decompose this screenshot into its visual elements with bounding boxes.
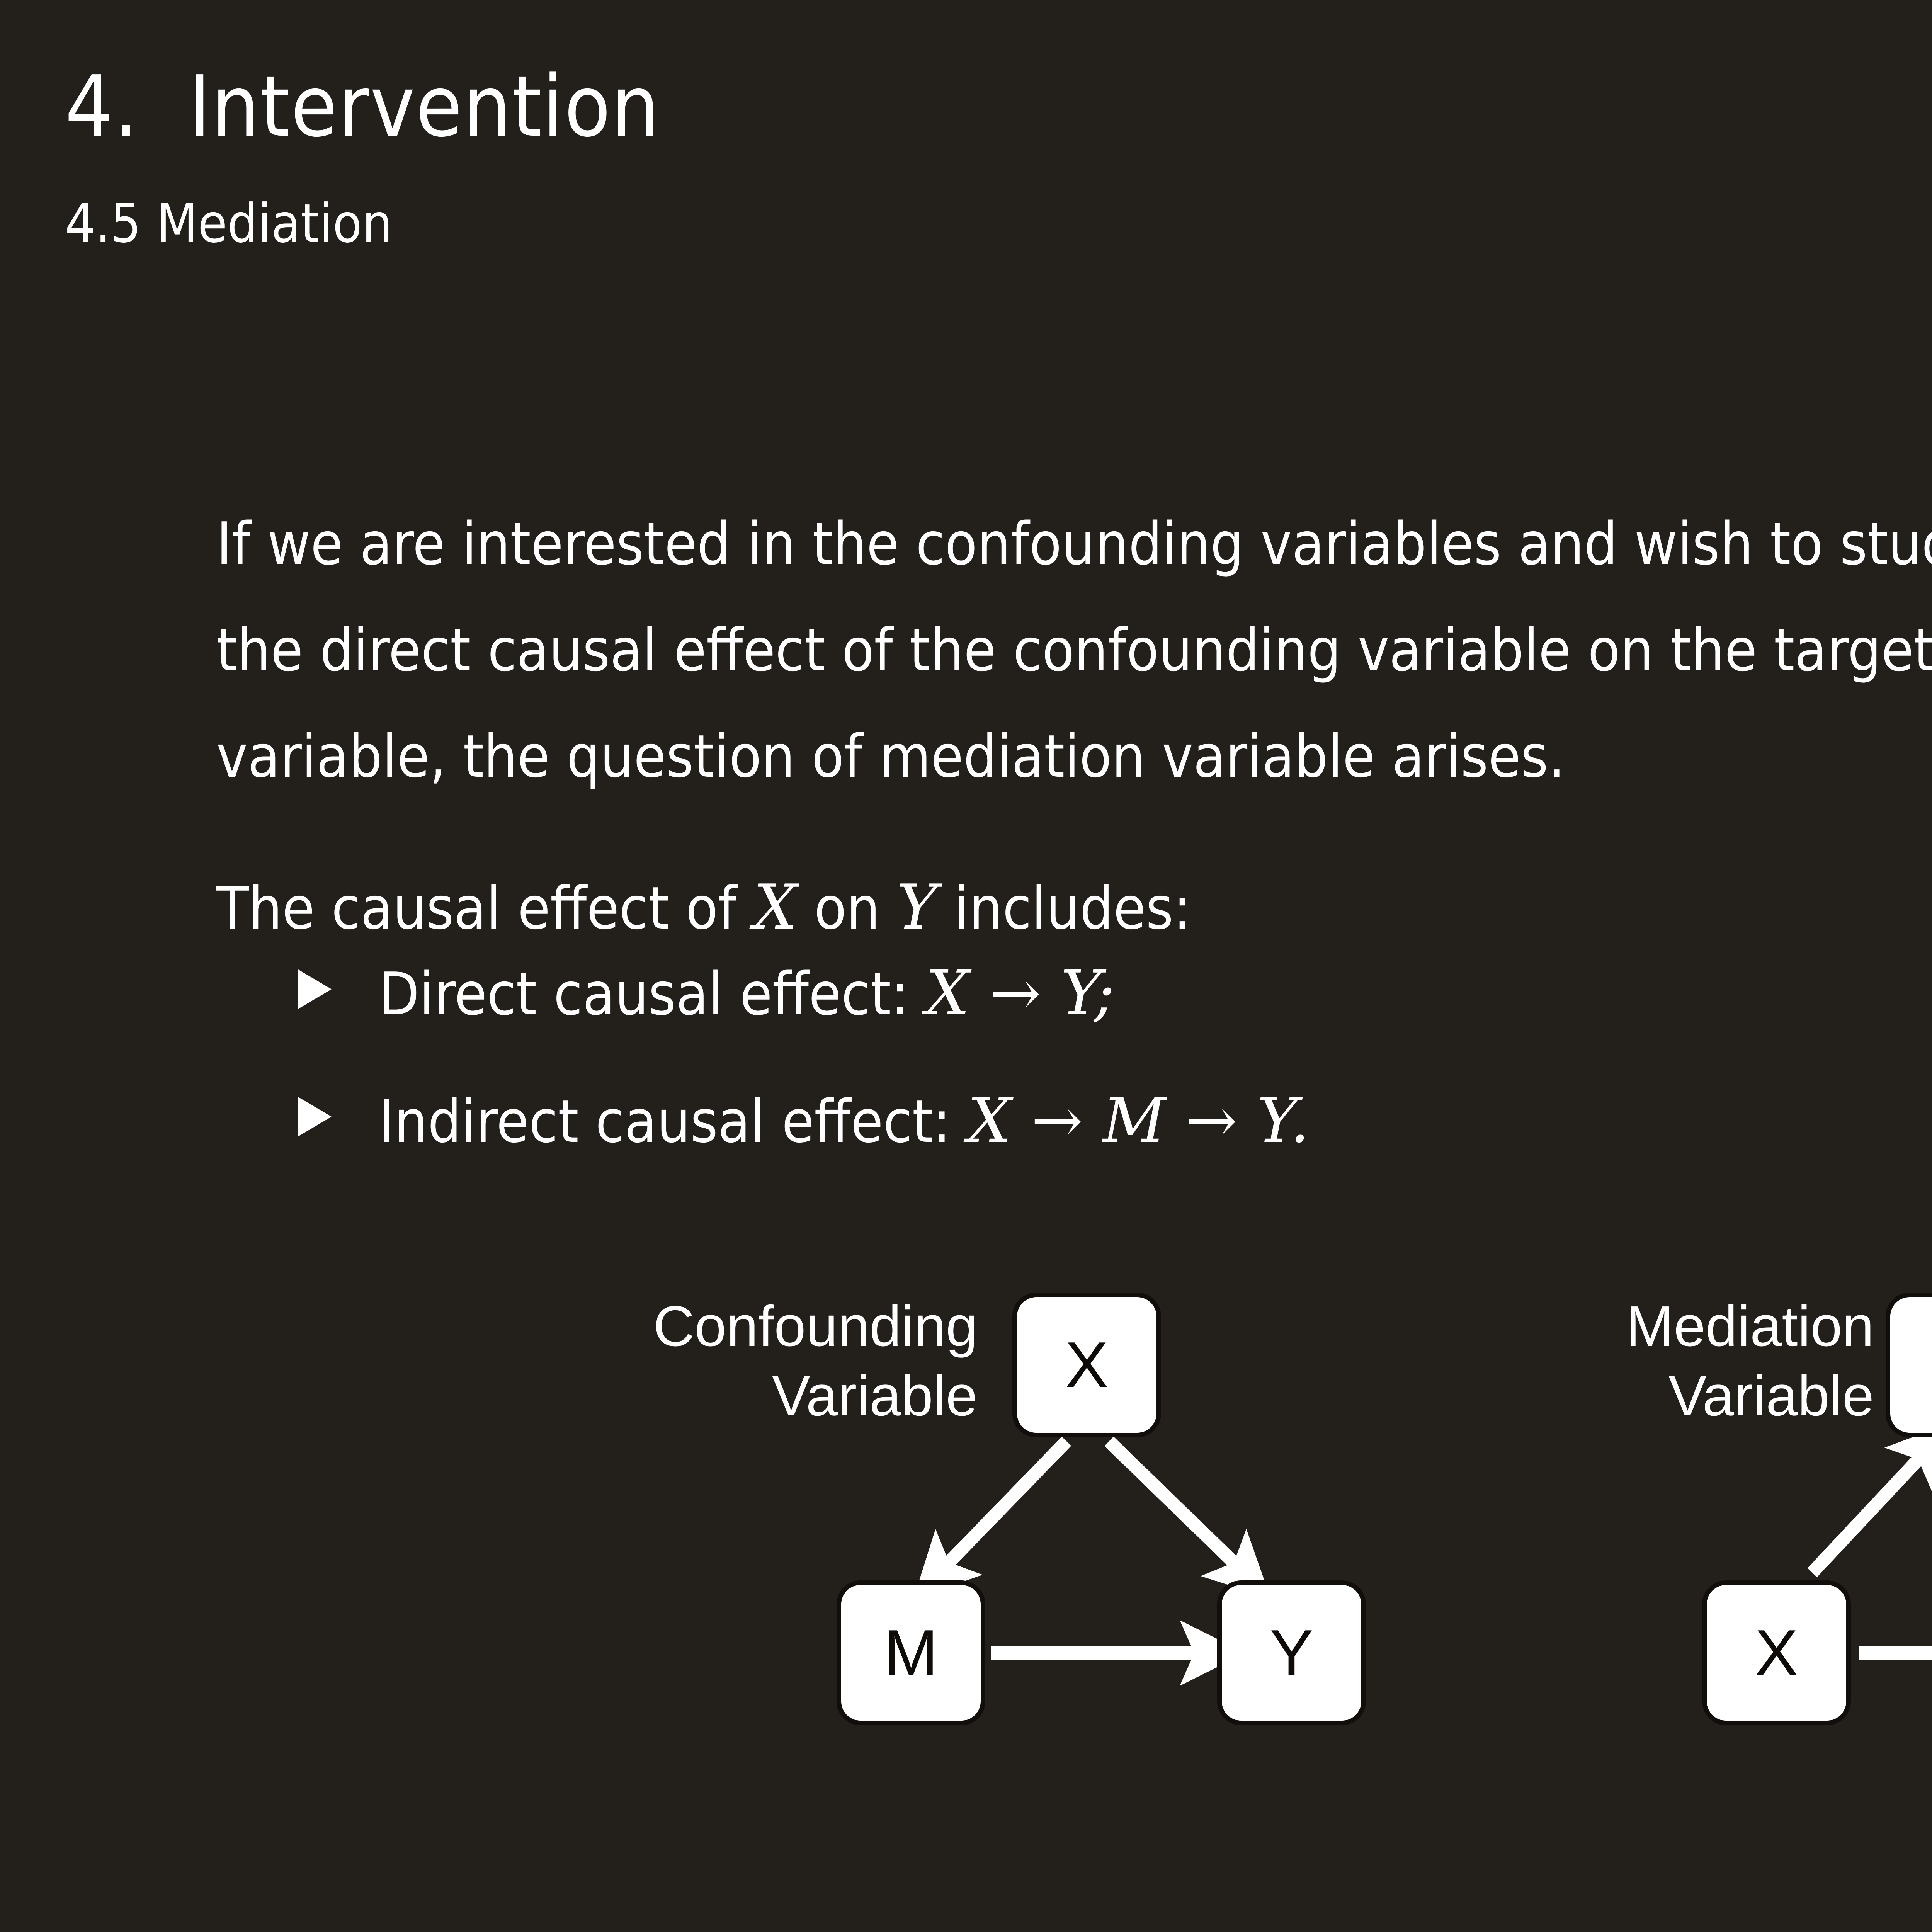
bullet-indirect-effect: Indirect causal effect: X → M → Y. bbox=[216, 1090, 1932, 1217]
bullet-terminator: . bbox=[1290, 1084, 1310, 1156]
edge-x-to-m bbox=[939, 1441, 1066, 1573]
paragraph-line-2: the direct causal effect of the confound… bbox=[216, 616, 1932, 684]
bullet-list: Direct causal effect: X → Y; Indirect ca… bbox=[216, 962, 1932, 1217]
edge-x-to-m bbox=[1812, 1449, 1928, 1573]
node-m[interactable]: M bbox=[837, 1580, 985, 1725]
page-subtitle: 4.5 Mediation bbox=[65, 197, 393, 250]
triangle-right-bullet-icon bbox=[298, 1097, 332, 1137]
lead-in-variable-y: Y bbox=[897, 871, 938, 943]
bullet-terminator: ; bbox=[1094, 957, 1115, 1029]
node-m[interactable]: M bbox=[1886, 1293, 1932, 1437]
bullet-label: Direct causal effect: bbox=[379, 960, 925, 1028]
bullet-formula: X → M → Y bbox=[968, 1084, 1290, 1156]
lead-in-variable-x: X bbox=[753, 871, 798, 943]
slide-header: 4. Intervention 4.5 Mediation bbox=[0, 0, 1932, 317]
mediation-variable-label: Mediation Variable bbox=[1321, 1292, 1874, 1431]
paragraph-line-3: variable, the question of mediation vari… bbox=[216, 722, 1565, 791]
slide-canvas: 4. Intervention 4.5 Mediation If we are … bbox=[0, 0, 1932, 1932]
lead-in-prefix: The causal effect of bbox=[216, 874, 753, 942]
bullet-direct-effect: Direct causal effect: X → Y; bbox=[216, 962, 1932, 1090]
confounding-variable-label: Confounding Variable bbox=[425, 1292, 978, 1431]
paragraph-line-1: If we are interested in the confounding … bbox=[216, 510, 1932, 578]
edge-x-to-y bbox=[1109, 1441, 1244, 1573]
lead-in-line: The causal effect of X on Y includes: bbox=[216, 854, 1932, 961]
bullet-label: Indirect causal effect: bbox=[379, 1087, 968, 1156]
node-x[interactable]: X bbox=[1702, 1580, 1851, 1725]
lead-in-mid: on bbox=[798, 874, 897, 942]
bullet-formula: X → Y bbox=[925, 957, 1094, 1029]
page-title: 4. Intervention bbox=[65, 65, 660, 149]
causal-diagrams: Confounding Variable Mediation Variable … bbox=[0, 1256, 1932, 1758]
node-y[interactable]: Y bbox=[1217, 1580, 1366, 1725]
lead-in-suffix: includes: bbox=[937, 874, 1191, 942]
intro-paragraph: If we are interested in the confounding … bbox=[216, 491, 1932, 810]
triangle-right-bullet-icon bbox=[298, 969, 332, 1009]
node-x[interactable]: X bbox=[1012, 1293, 1161, 1437]
